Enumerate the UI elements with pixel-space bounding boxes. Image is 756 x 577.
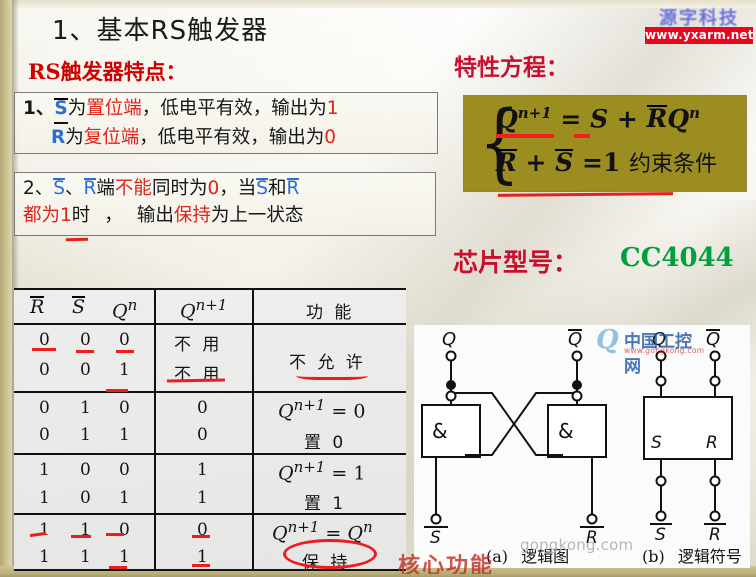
- f2l1-t1: 端: [96, 178, 115, 199]
- f2l1-sep: 、: [65, 178, 84, 199]
- pen-mark-g0-sbar: [76, 350, 94, 353]
- header-q-label: Q: [112, 300, 128, 322]
- figure-caption-b-text: 逻辑符号: [670, 547, 742, 566]
- cell-g2-r0-rbar: 1: [39, 460, 50, 480]
- features-heading: RS触发器特点：: [28, 56, 187, 86]
- feature-box-1-line-2: R为复位端，低电平有效，输出为0: [23, 124, 431, 151]
- pen-mark-g0-function: [296, 372, 368, 380]
- cell-g1-r1-qn1: 0: [197, 425, 208, 445]
- terminal-qbar-right: [711, 352, 720, 361]
- pen-mark-g3-sbar: [71, 535, 91, 538]
- eq2-r-bar: R: [496, 149, 517, 175]
- terminal-q-left: [447, 352, 456, 361]
- table-column-divider-2: [252, 290, 254, 569]
- page-title: 1、基本RS触发器: [52, 10, 268, 47]
- cell-g0-r1-rbar: 0: [39, 360, 50, 380]
- terminal-qbar-right-2: [711, 377, 720, 386]
- table-group-rule-1: [14, 391, 406, 393]
- figure-caption-b-index: (b): [642, 547, 665, 566]
- r-symbol: R: [51, 127, 65, 148]
- r-bar-symbol-3: R: [287, 178, 300, 198]
- slide-top-edge: [0, 0, 756, 8]
- cell-g1-r1-rbar: 0: [39, 425, 50, 445]
- eq2-s-bar: S: [555, 149, 573, 175]
- eq1-r-bar: R: [647, 105, 668, 131]
- circuit-figure: Q Q S R & & Q Q S R S R (a) 逻辑图 (b) 逻辑符号: [414, 325, 750, 568]
- pen-mark-g3-q: [106, 533, 124, 536]
- nand-gate-left: [422, 405, 480, 457]
- terminal-s-left: [432, 515, 441, 524]
- pen-mark-under-box2: [66, 238, 88, 241]
- eq1-q: Q: [667, 104, 689, 133]
- s-bar-symbol-3: S: [256, 178, 268, 198]
- f2l2-t3: 输出: [137, 205, 174, 226]
- equation-line-2: R + S =1 约束条件: [496, 146, 717, 178]
- cell-g3-r0-q: 0: [119, 520, 130, 540]
- watermark-brand-text: 源字科技: [648, 4, 750, 28]
- equation-line-1: Qn+1 = S + RQn: [496, 104, 700, 133]
- chip-model-label: 芯片型号：: [453, 243, 578, 279]
- gate-label-right: &: [558, 419, 574, 443]
- eq1-q-sup: n: [689, 104, 700, 122]
- pen-mark-g0-q2: [106, 389, 128, 392]
- header-s-label: S: [72, 296, 85, 316]
- cell-g3-r1-q: 1: [119, 547, 130, 567]
- f2l2-t1: 时: [72, 205, 91, 226]
- eq2-equals: =: [582, 148, 603, 177]
- cell-g0-r0-q: 0: [119, 330, 130, 350]
- pen-mark-eq-q: [496, 134, 554, 138]
- f2l1-t4: 和: [268, 178, 287, 199]
- slide-left-edge: [0, 0, 12, 577]
- label-r-inner: R: [706, 433, 718, 453]
- terminal-r-right-2: [711, 477, 720, 486]
- header-qnext-sup: n+1: [196, 296, 228, 314]
- characteristic-equation-panel: { Qn+1 = S + RQn R + S =1 约束条件: [464, 96, 746, 191]
- feature-box-1-line-1: 1、S为置位端，低电平有效，输出为1: [23, 95, 431, 124]
- eq1-plus: +: [617, 104, 638, 133]
- label-s-right: S: [655, 525, 666, 545]
- cell-g2-r1-qn1: 1: [197, 488, 208, 508]
- table-group-rule-2: [14, 453, 406, 455]
- label-qbar-right: Q: [706, 329, 720, 350]
- label-s-left: S: [430, 528, 441, 548]
- pen-mark-g3-q2: [109, 566, 127, 569]
- characteristic-equation-heading: 特性方程：: [454, 48, 569, 82]
- label-r-right: R: [709, 525, 721, 545]
- table-header-sbar: S: [72, 296, 85, 318]
- cell-g0-r0-sbar: 0: [80, 330, 91, 350]
- table-header-rule: [14, 323, 406, 325]
- label-s-inner: S: [651, 433, 662, 453]
- f2l1-red1: 不能: [115, 178, 152, 199]
- feature-box-2-line-1: 2、S、R端不能同时为0，当S和R: [23, 175, 429, 202]
- chip-model-value: CC4044: [620, 243, 734, 273]
- cell-g1-r1-sbar: 1: [80, 425, 91, 445]
- cell-g1-function-text: 置 0: [304, 428, 346, 453]
- cell-g0-r1-q: 1: [119, 360, 130, 380]
- feature-box-2-line-2: 都为1时，输出保持为上一状态: [23, 202, 429, 229]
- f1l2-r1: 复位端: [84, 127, 140, 148]
- pen-mark-g3-qn1: [192, 535, 210, 538]
- cell-g2-r1-q: 1: [119, 488, 130, 508]
- f2l2-t2: ，: [90, 205, 137, 226]
- cell-g3-r0-rbar: 1: [39, 520, 50, 540]
- f2l1-t2: 同时为: [152, 178, 208, 199]
- slide-canvas: 1、基本RS触发器 RS触发器特点： 特性方程： 源字科技 www.yxarm.…: [0, 0, 756, 577]
- terminal-q-node-small: [447, 392, 456, 401]
- f1l1-t2: ，低电平有效，输出为: [142, 98, 327, 119]
- f1l2-t2: ，低电平有效，输出为: [139, 127, 324, 148]
- cell-g2-r0-q: 0: [119, 460, 130, 480]
- cell-g0-r0-qn1: 不 用: [174, 330, 222, 355]
- terminal-qbar-node-small: [573, 392, 582, 401]
- pen-mark-g0-q: [116, 350, 134, 353]
- eq2-one: 1: [603, 148, 620, 177]
- r-bar-symbol-2: R: [84, 178, 97, 198]
- gate-label-left: &: [432, 419, 448, 443]
- cell-g1-r0-q: 0: [119, 398, 130, 418]
- pen-mark-g0-rbar: [32, 348, 56, 351]
- header-r-label: R: [30, 296, 44, 316]
- cell-g2-r1-rbar: 1: [39, 488, 50, 508]
- label-q-left: Q: [442, 329, 456, 350]
- header-qnext-label: Q: [180, 300, 196, 322]
- label-qbar-left: Q: [568, 329, 582, 350]
- terminal-qbar-left: [573, 352, 582, 361]
- cell-g2-r0-qn1: 1: [197, 460, 208, 480]
- terminal-s-right: [657, 512, 666, 521]
- table-group-rule-3: [14, 513, 406, 515]
- cell-g1-r0-rbar: 0: [39, 398, 50, 418]
- label-q-right: Q: [652, 329, 666, 350]
- pen-mark-under-equation-panel: [498, 192, 673, 197]
- eq1-equals: =: [560, 104, 581, 133]
- junction-dot-q: [446, 380, 456, 390]
- cell-g2-r1-sbar: 0: [80, 488, 91, 508]
- pen-mark-ellipse-hold: [283, 539, 377, 569]
- f2l2-t4: 为上一状态: [211, 205, 304, 226]
- cell-g0-r0-rbar: 0: [39, 330, 50, 350]
- nand-gate-right: [548, 405, 606, 457]
- cell-g0-function: 不 允 许: [289, 348, 366, 373]
- table-header-qn1: Qn+1: [180, 296, 227, 322]
- f2l2-red2: 保持: [174, 205, 211, 226]
- annotation-scribble: 核心功能: [398, 548, 578, 574]
- watermark-top-right: 源字科技 www.yxarm.net: [645, 2, 753, 46]
- watermark-url-text: www.yxarm.net: [645, 27, 753, 44]
- cell-g2-function-eq: Qn+1 = 1: [278, 458, 365, 484]
- terminal-q-right: [657, 352, 666, 361]
- feature-box-1: 1、S为置位端，低电平有效，输出为1 R为复位端，低电平有效，输出为0: [14, 92, 438, 154]
- table-header-rbar: R: [30, 296, 44, 318]
- f1l1-r2: 1: [327, 98, 339, 119]
- circuit-figure-svg: [414, 325, 750, 568]
- eq1-s: S: [590, 104, 608, 133]
- f1l1-t1: 为: [68, 98, 87, 119]
- eq2-note: 约束条件: [629, 152, 717, 177]
- table-header-function: 功 能: [306, 298, 354, 323]
- cell-g3-r1-sbar: 1: [80, 547, 91, 567]
- header-q-sup: n: [128, 296, 138, 314]
- feature-box-1-index: 1、: [23, 98, 54, 119]
- pen-mark-g3-qn1-2: [192, 564, 210, 567]
- eq1-lhs: Q: [496, 104, 518, 133]
- feature-box-2-index: 2、: [23, 178, 53, 199]
- terminal-s-right-2: [657, 477, 666, 486]
- cell-g2-function-text: 置 1: [304, 489, 346, 514]
- f2l1-t3: ，当: [219, 178, 256, 199]
- terminal-q-right-2: [657, 377, 666, 386]
- pen-mark-eq-s: [574, 134, 590, 138]
- cell-g1-r0-qn1: 0: [197, 398, 208, 418]
- figure-caption-b: (b) 逻辑符号: [642, 543, 742, 567]
- f2l1-red2: 0: [207, 178, 219, 199]
- f1l1-r1: 置位端: [86, 98, 142, 119]
- cell-g3-r1-rbar: 1: [39, 547, 50, 567]
- cell-g2-r0-sbar: 0: [80, 460, 91, 480]
- eq1-lhs-sup: n+1: [518, 104, 552, 122]
- feature-box-2: 2、S、R端不能同时为0，当S和R 都为1时，输出保持为上一状态: [14, 172, 436, 236]
- s-bar-symbol: S: [54, 98, 67, 118]
- eq2-plus: +: [526, 148, 547, 177]
- s-bar-symbol-2: S: [53, 178, 65, 198]
- f1l2-t1: 为: [65, 127, 84, 148]
- f2l2-red1: 都为1: [23, 205, 72, 226]
- cell-g0-r1-sbar: 0: [80, 360, 91, 380]
- terminal-r-left: [588, 515, 597, 524]
- cell-g1-function-eq: Qn+1 = 0: [278, 396, 365, 422]
- terminal-r-right: [711, 512, 720, 521]
- table-header-qn: Qn: [112, 296, 137, 322]
- junction-dot-qbar: [572, 380, 582, 390]
- cell-g1-r0-sbar: 1: [80, 398, 91, 418]
- table-column-divider-1: [154, 290, 156, 569]
- f1l2-r2: 0: [324, 127, 336, 148]
- truth-table: R S Qn Qn+1 功 能 0 0 0 不 用 0 0 1 不 用 不 允 …: [14, 288, 406, 571]
- cell-g1-r1-q: 1: [119, 425, 130, 445]
